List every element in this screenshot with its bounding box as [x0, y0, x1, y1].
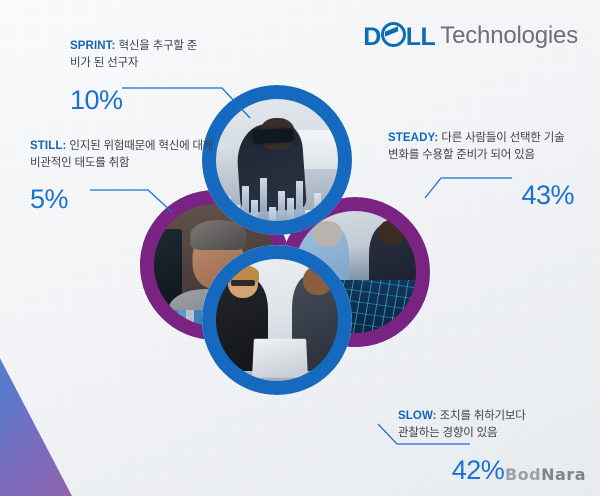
label-slow-text: SLOW: 조치를 취하기보다 관찰하는 경향이 있음 — [398, 408, 588, 441]
label-steady-text: STEADY: 다른 사람들이 선택한 기술 변화를 수용할 준비가 되어 있음 — [388, 130, 588, 163]
bubble-slow[interactable] — [202, 245, 352, 395]
label-slow-key: SLOW: — [398, 410, 437, 422]
label-still-key: STILL: — [30, 140, 66, 152]
label-still-desc-line2: 비관적인 태도를 취함 — [30, 157, 129, 169]
label-steady-desc-line2: 변화를 수용할 준비가 되어 있음 — [388, 149, 535, 161]
dell-letter-d: D — [363, 23, 381, 52]
dell-letters-ll: LL — [406, 23, 436, 52]
value-sprint-percent: 10% — [70, 87, 240, 114]
bodnara-watermark: BodNara — [505, 465, 586, 484]
infographic-canvas: DLL Technologies — [0, 0, 600, 496]
value-steady-percent: 43% — [388, 182, 588, 209]
corner-gradient-wedge — [0, 328, 72, 496]
label-slow-desc-line2: 관찰하는 경향이 있음 — [398, 427, 497, 439]
label-steady-desc-line1: 다른 사람들이 선택한 기술 — [441, 132, 564, 144]
label-steady-key: STEADY: — [388, 132, 438, 144]
bubble-cluster — [140, 85, 430, 395]
label-still: STILL: 인지된 위험때문에 혁신에 대해 비관적인 태도를 취함 5% — [30, 138, 222, 213]
label-still-desc-line1: 인지된 위험때문에 혁신에 대해 — [69, 140, 213, 152]
watermark-text-a: Bod — [505, 465, 541, 484]
label-sprint-key: SPRINT: — [70, 40, 115, 52]
dell-wordmark: DLL — [363, 20, 435, 52]
label-sprint-desc-line2: 비가 된 선구자 — [70, 57, 138, 69]
dell-technologies-suffix: Technologies — [440, 22, 578, 50]
label-steady: STEADY: 다른 사람들이 선택한 기술 변화를 수용할 준비가 되어 있음… — [388, 130, 588, 209]
photo-two-people-laptop — [202, 245, 352, 395]
label-slow-desc-line1: 조치를 취하기보다 — [440, 410, 526, 422]
label-still-text: STILL: 인지된 위험때문에 혁신에 대해 비관적인 태도를 취함 — [30, 138, 222, 171]
label-sprint-desc-line1: 혁신을 추구할 준 — [118, 40, 197, 52]
dell-technologies-logo: DLL Technologies — [363, 20, 578, 52]
dell-oval-e-icon — [381, 22, 406, 47]
label-sprint-text: SPRINT: 혁신을 추구할 준 비가 된 선구자 — [70, 38, 240, 71]
label-sprint: SPRINT: 혁신을 추구할 준 비가 된 선구자 10% — [70, 38, 240, 114]
value-still-percent: 5% — [30, 186, 222, 213]
watermark-text-b: Nara — [541, 465, 586, 484]
